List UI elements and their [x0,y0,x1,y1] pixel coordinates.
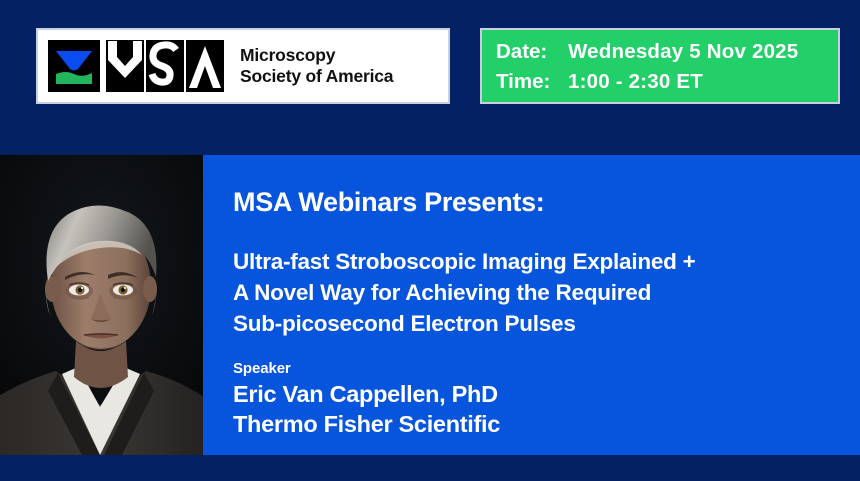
date-value: Wednesday 5 Nov 2025 [568,37,798,67]
time-value: 1:00 - 2:30 ET [568,67,703,97]
msa-wordmark-line2: Society of America [240,66,393,87]
webinar-title-line3: Sub-picosecond Electron Pulses [233,308,695,339]
time-row: Time: 1:00 - 2:30 ET [496,67,838,97]
date-row: Date: Wednesday 5 Nov 2025 [496,37,838,67]
poster-body: MSA Webinars Presents: Ultra-fast Strobo… [0,155,860,455]
speaker-name: Eric Van Cappellen, PhD [233,379,500,409]
msa-wordmark: Microscopy Society of America [240,45,393,87]
msa-wordmark-line1: Microscopy [240,45,393,66]
msa-microscope-lens-logo-icon [48,40,224,92]
webinar-promo-poster: Microscopy Society of America Date: Wedn… [0,0,860,481]
content-panel: MSA Webinars Presents: Ultra-fast Strobo… [203,155,860,455]
webinar-title: Ultra-fast Stroboscopic Imaging Explaine… [233,246,695,339]
date-label: Date: [496,37,568,67]
footer-band [0,455,860,481]
webinar-title-line1: Ultra-fast Stroboscopic Imaging Explaine… [233,246,695,277]
presents-heading: MSA Webinars Presents: [233,187,545,218]
speaker-block: Eric Van Cappellen, PhD Thermo Fisher Sc… [233,379,500,439]
speaker-photo [0,155,203,455]
speaker-affiliation: Thermo Fisher Scientific [233,409,500,439]
time-label: Time: [496,67,568,97]
webinar-title-line2: A Novel Way for Achieving the Required [233,277,695,308]
date-time-banner: Date: Wednesday 5 Nov 2025 Time: 1:00 - … [480,28,840,104]
msa-logo-box: Microscopy Society of America [36,28,450,104]
poster-header: Microscopy Society of America Date: Wedn… [0,0,860,155]
speaker-label: Speaker [233,360,291,377]
